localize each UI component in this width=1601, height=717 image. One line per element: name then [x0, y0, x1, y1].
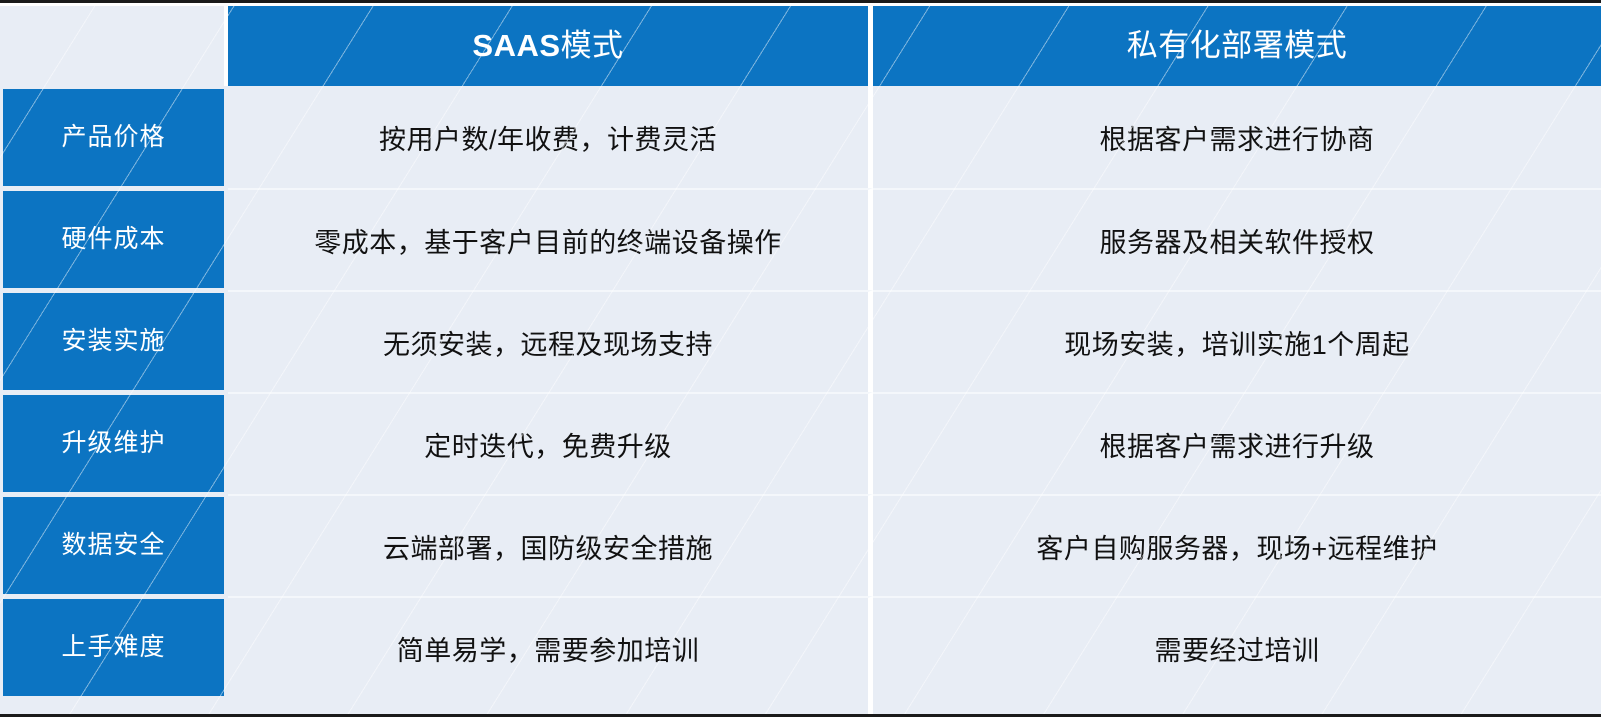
- cell-private-product-price: 根据客户需求进行协商: [873, 86, 1601, 188]
- bottom-band-saas-column: [228, 698, 873, 717]
- column-header-saas-bold-text: SAAS: [472, 28, 560, 63]
- row-header-upgrade-maintenance: 升级维护: [0, 392, 228, 494]
- table-header: SAAS模式 私有化部署模式: [0, 6, 1601, 86]
- table-row: 安装实施 无须安装，远程及现场支持 现场安装，培训实施1个周起: [0, 290, 1601, 392]
- cell-saas-data-security: 云端部署，国防级安全措施: [228, 494, 873, 596]
- column-header-private: 私有化部署模式: [873, 6, 1601, 86]
- column-header-saas-rest-text: 模式: [561, 28, 624, 63]
- table-row: 数据安全 云端部署，国防级安全措施 客户自购服务器，现场+远程维护: [0, 494, 1601, 596]
- header-row: SAAS模式 私有化部署模式: [0, 6, 1601, 86]
- cell-private-hardware-cost: 服务器及相关软件授权: [873, 188, 1601, 290]
- comparison-table-slide: SAAS模式 私有化部署模式 产品价格 按用户数/年收费，计费灵活 根据客户需求…: [0, 0, 1601, 717]
- column-header-saas: SAAS模式: [228, 6, 873, 86]
- table-row: 升级维护 定时迭代，免费升级 根据客户需求进行升级: [0, 392, 1601, 494]
- cell-saas-product-price: 按用户数/年收费，计费灵活: [228, 86, 873, 188]
- header-corner-cell: [0, 6, 228, 86]
- cell-private-installation: 现场安装，培训实施1个周起: [873, 290, 1601, 392]
- row-header-data-security: 数据安全: [0, 494, 228, 596]
- cell-private-data-security: 客户自购服务器，现场+远程维护: [873, 494, 1601, 596]
- cell-private-upgrade-maintenance: 根据客户需求进行升级: [873, 392, 1601, 494]
- table-row: 硬件成本 零成本，基于客户目前的终端设备操作 服务器及相关软件授权: [0, 188, 1601, 290]
- row-header-learning-curve: 上手难度: [0, 596, 228, 698]
- row-header-product-price: 产品价格: [0, 86, 228, 188]
- table-row: 产品价格 按用户数/年收费，计费灵活 根据客户需求进行协商: [0, 86, 1601, 188]
- row-header-label: 安装实施: [3, 293, 224, 390]
- row-header-label: 硬件成本: [3, 191, 224, 288]
- row-header-label: 数据安全: [3, 497, 224, 594]
- saas-vs-private-comparison-table: SAAS模式 私有化部署模式 产品价格 按用户数/年收费，计费灵活 根据客户需求…: [0, 6, 1601, 717]
- cell-private-learning-curve: 需要经过培训: [873, 596, 1601, 698]
- cell-saas-learning-curve: 简单易学，需要参加培训: [228, 596, 873, 698]
- row-header-label: 产品价格: [3, 89, 224, 186]
- table-bottom-band: [0, 698, 1601, 717]
- cell-saas-hardware-cost: 零成本，基于客户目前的终端设备操作: [228, 188, 873, 290]
- bottom-band-private-column: [873, 698, 1601, 717]
- row-header-label: 上手难度: [3, 599, 224, 696]
- row-header-hardware-cost: 硬件成本: [0, 188, 228, 290]
- cell-saas-upgrade-maintenance: 定时迭代，免费升级: [228, 392, 873, 494]
- bottom-band-label-column: [0, 698, 228, 717]
- table-body: 产品价格 按用户数/年收费，计费灵活 根据客户需求进行协商 硬件成本 零成本，基…: [0, 86, 1601, 717]
- table-row: 上手难度 简单易学，需要参加培训 需要经过培训: [0, 596, 1601, 698]
- cell-saas-installation: 无须安装，远程及现场支持: [228, 290, 873, 392]
- row-header-installation: 安装实施: [0, 290, 228, 392]
- row-header-label: 升级维护: [3, 395, 224, 492]
